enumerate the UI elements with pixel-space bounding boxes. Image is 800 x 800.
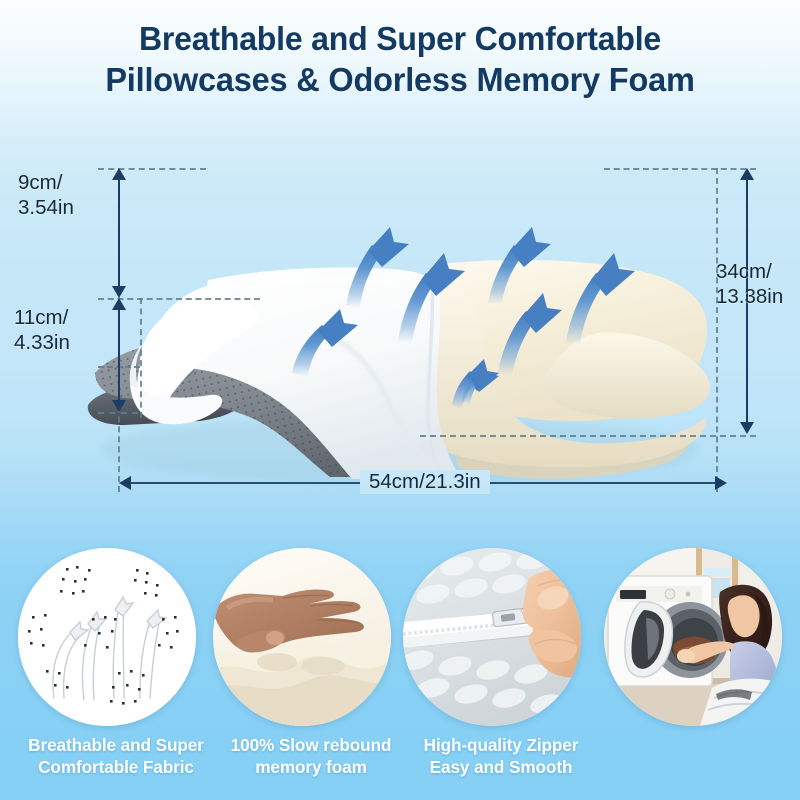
feature-image-breathable-fabric <box>18 548 196 726</box>
feature-image-machine-washable <box>604 548 782 726</box>
feature-highlights: Breathable and Super Comfortable Fabric <box>0 548 800 800</box>
feature-high-quality-zipper[interactable]: High-quality Zipper Easy and Smooth <box>403 548 599 726</box>
feature-breathable-fabric[interactable]: Breathable and Super Comfortable Fabric <box>18 548 214 726</box>
measure-lower-height <box>118 309 120 401</box>
guide-line-right-top <box>604 168 756 170</box>
dimension-label-upper-height: 9cm/ 3.54in <box>18 170 74 220</box>
feature-image-high-quality-zipper <box>403 548 581 726</box>
measure-upper-height <box>118 179 120 287</box>
dimension-label-depth: 34cm/ 13.38in <box>716 259 783 309</box>
page-title: Breathable and Super Comfortable Pillowc… <box>12 18 788 102</box>
feature-caption-high-quality-zipper: High-quality Zipper Easy and Smooth <box>403 734 599 778</box>
pillow-illustration <box>0 105 800 515</box>
dimension-label-lower-height: 11cm/ 4.33in <box>14 305 70 355</box>
feature-machine-washable[interactable] <box>604 548 800 726</box>
feature-caption-breathable-fabric: Breathable and Super Comfortable Fabric <box>18 734 214 778</box>
guide-vert-mid <box>140 298 142 418</box>
title-line-2: Pillowcases & Odorless Memory Foam <box>12 60 788 102</box>
product-hero: 9cm/ 3.54in 11cm/ 4.33in 34cm/ 13.38in 5… <box>0 105 800 515</box>
title-line-1: Breathable and Super Comfortable <box>12 18 788 60</box>
guide-line-right-bottom <box>420 435 756 437</box>
feature-slow-rebound-foam[interactable]: 100% Slow rebound memory foam <box>213 548 409 726</box>
dimension-label-width: 54cm/21.3in <box>360 470 490 494</box>
feature-image-slow-rebound-foam <box>213 548 391 726</box>
feature-caption-slow-rebound-foam: 100% Slow rebound memory foam <box>213 734 409 778</box>
guide-vert-right <box>716 168 718 492</box>
